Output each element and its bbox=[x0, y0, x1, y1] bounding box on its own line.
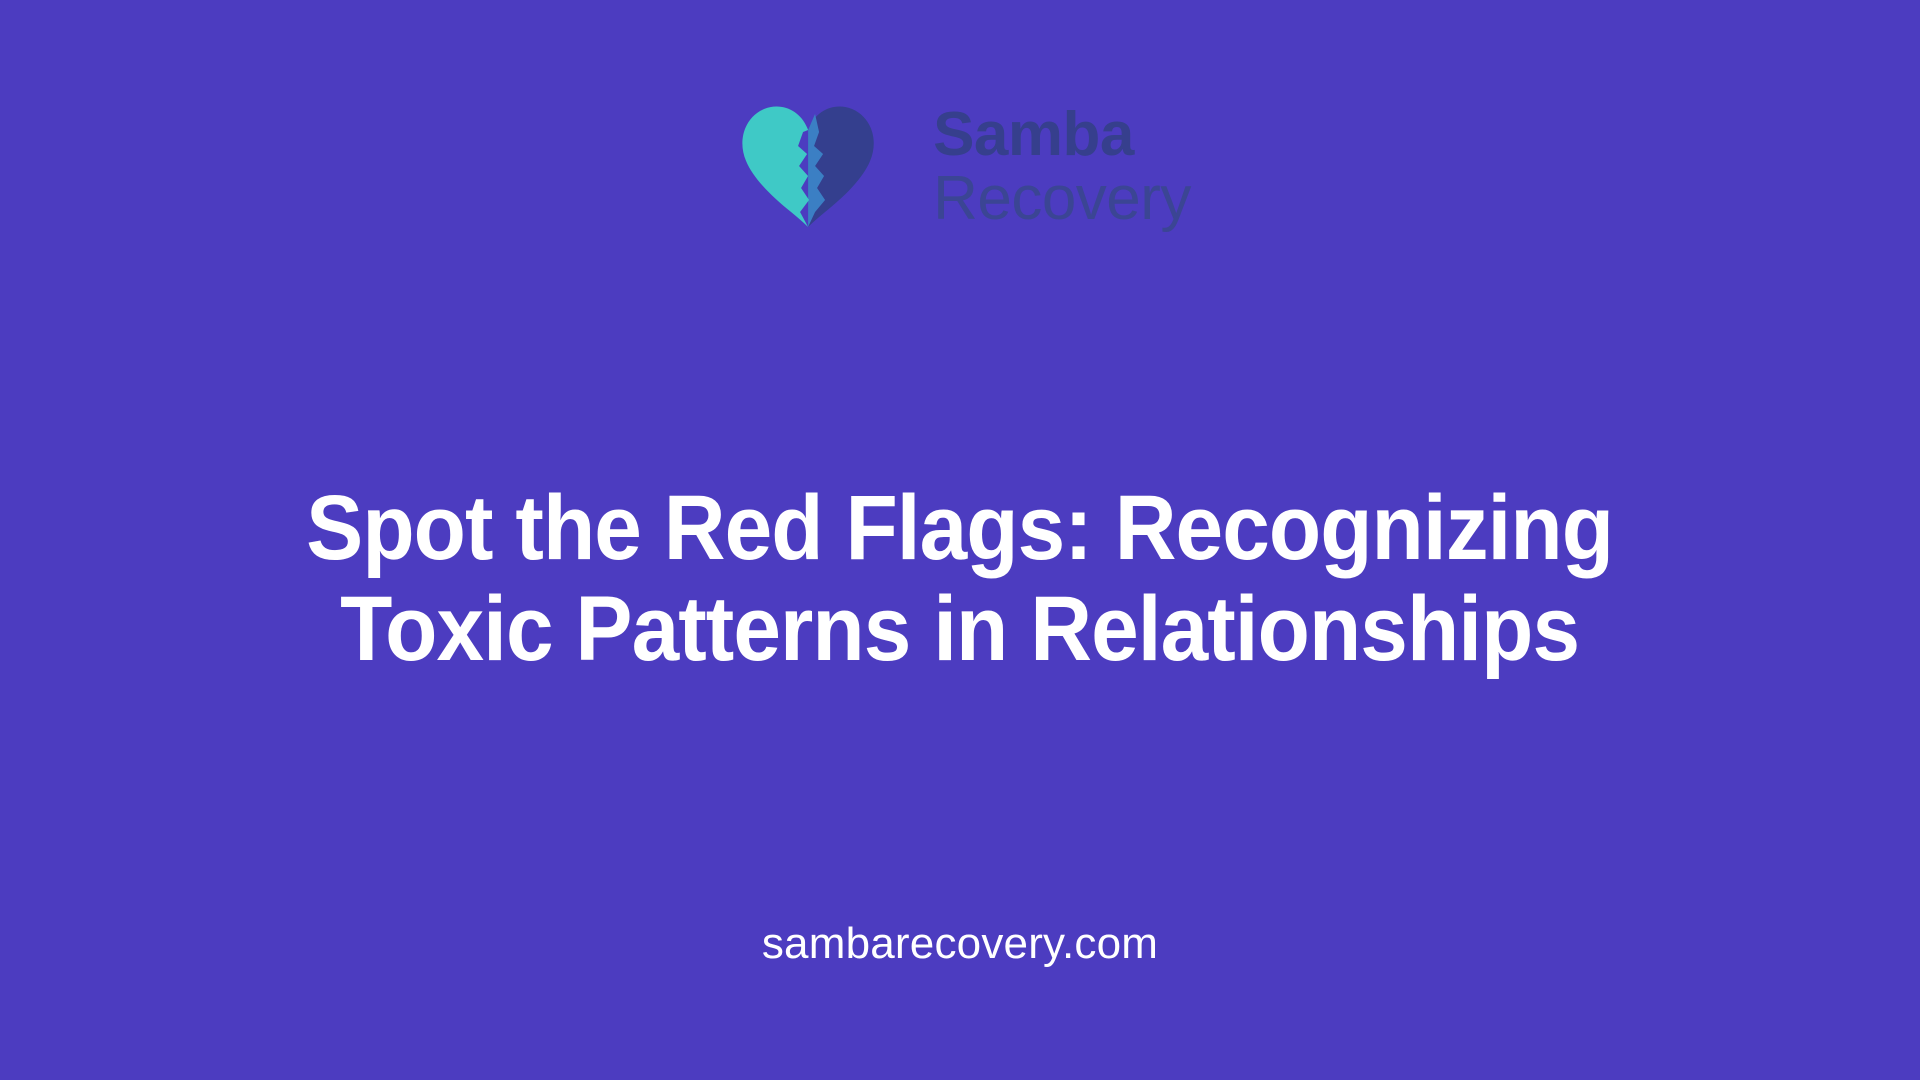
site-url: sambarecovery.com bbox=[0, 918, 1920, 971]
brand-name-secondary: Recovery bbox=[933, 167, 1191, 231]
social-share-card: Samba Recovery Spot the Red Flags: Recog… bbox=[0, 0, 1920, 1080]
headline-line-2: Toxic Patterns in Relationships bbox=[341, 578, 1580, 680]
broken-heart-logo-icon bbox=[729, 88, 887, 246]
brand-lockup: Samba Recovery bbox=[729, 88, 1191, 246]
headline-line-1: Spot the Red Flags: Recognizing bbox=[307, 477, 1614, 579]
page-title: Spot the Red Flags: RecognizingToxic Pat… bbox=[307, 478, 1614, 680]
brand-name-primary: Samba bbox=[933, 103, 1191, 167]
brand-wordmark: Samba Recovery bbox=[933, 103, 1191, 232]
headline-block: Spot the Red Flags: RecognizingToxic Pat… bbox=[0, 478, 1920, 680]
